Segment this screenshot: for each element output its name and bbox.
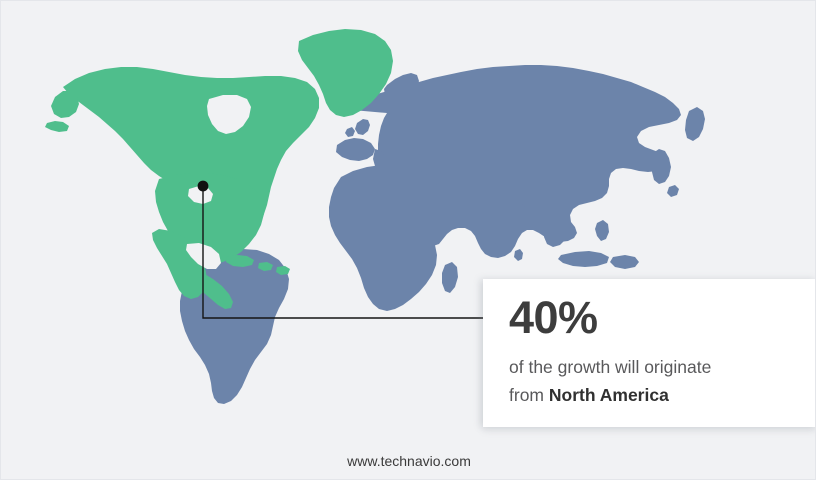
callout-region-emphasis: North America [549,385,669,405]
callout-description-line2: from North America [509,381,816,409]
callout-description-line1: of the growth will originate [509,353,816,381]
callout-stat-value: 40% [509,295,816,341]
market-share-infographic: 40% of the growth will originate from No… [0,0,816,480]
footer-source-url: www.technavio.com [1,453,816,469]
callout-line2-prefix: from [509,385,549,405]
callout-card: 40% of the growth will originate from No… [483,279,816,427]
